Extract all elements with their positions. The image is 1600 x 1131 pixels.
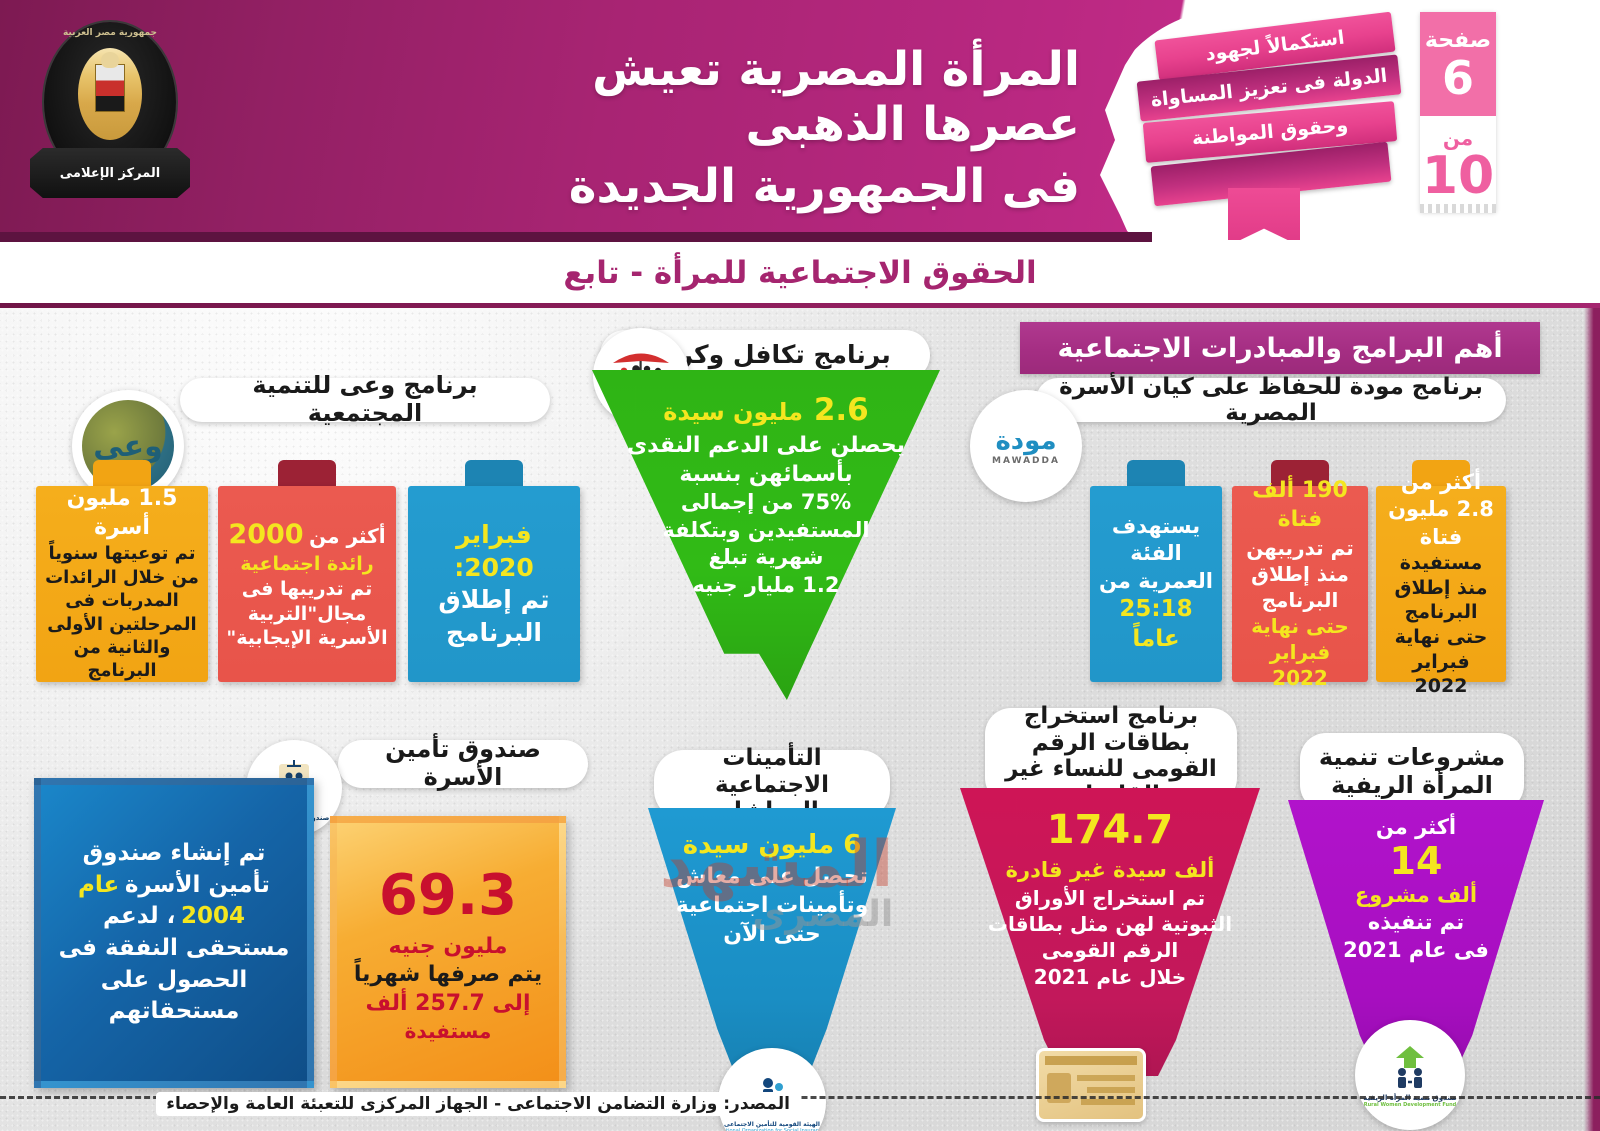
emblem-ribbon-label: المركز الإعلامى [60, 166, 160, 181]
waei-card-blue-body: فبراير 2020: تم إطلاق البرنامج [408, 486, 580, 682]
mawadda-card-orange-body: أكثر من 2.8 مليون فتاة مستفيدة منذ إطلاق… [1376, 486, 1506, 682]
egypt-flag-icon [95, 64, 125, 112]
waei-blue-text: تم إطلاق البرنامج [438, 585, 549, 647]
waei-red-number: 2000 [228, 519, 303, 550]
rural-women-pre: أكثر من [1298, 814, 1534, 842]
family-fund-line-1: يتم صرفها شهرياً [354, 962, 542, 987]
social-insurance-line-3: حتى الآن [658, 920, 886, 949]
page-header: جمهورية مصر العربية رئاسة مجلس الوزراء ا… [0, 0, 1600, 240]
programs-section-header: أهم البرامج والمبادرات الاجتماعية [1020, 322, 1540, 374]
national-id-line-4: خلال عام 2021 [970, 964, 1250, 990]
waei-orange-text: تم توعيتها سنوياً من خلال الرائدات المدر… [45, 543, 199, 681]
national-id-line-1: تم استخراج الأوراق [970, 885, 1250, 911]
takaful-line-1: يحصلن على الدعم النقدى [602, 431, 930, 460]
social-insurance-line-1: تحصل على معاش [658, 862, 886, 891]
national-id-funnel: 174.7 ألف سيدة غير قادرة تم استخراج الأو… [960, 788, 1260, 1088]
page-title-line2: فى الجمهورية الجديدة [420, 159, 1080, 214]
page-title: المرأة المصرية تعيش عصرها الذهبى فى الجم… [420, 42, 1080, 214]
mawadda-red-text: تم تدريبهن منذ إطلاق البرنامج [1246, 536, 1354, 612]
eagle-head-icon [101, 52, 119, 68]
rural-women-title: مشروعات تنمية المرأة الريفية [1318, 744, 1506, 799]
rural-women-number: 14 [1298, 842, 1534, 882]
national-id-line-2: الثبوتية لهن مثل بطاقات [970, 911, 1250, 937]
page-number-badge: صفحة 6 من 10 [1420, 12, 1496, 212]
waei-orange-highlight: 1.5 مليون أسرة [67, 486, 178, 540]
page-badge-bottom: من 10 [1420, 116, 1496, 212]
family-fund-number: 69.3 [354, 860, 542, 933]
waei-card-red: أكثر من 2000 رائدة اجتماعية تم تدريبها ف… [218, 486, 396, 682]
takaful-unit: مليون سيدة [663, 398, 803, 426]
header-ribbon-banner: استكمالاً لجهود الدولة فى تعزيز المساواة… [1110, 20, 1410, 230]
takaful-highlight-number: 2.6 مليون سيدة [602, 390, 930, 431]
waei-blue-highlight: فبراير 2020: [454, 520, 534, 582]
page-total: 10 [1422, 150, 1494, 202]
national-id-line-3: الرقم القومى [970, 937, 1250, 963]
egypt-government-emblem: جمهورية مصر العربية رئاسة مجلس الوزراء ا… [30, 22, 190, 212]
social-insurance-logo-caption-en: National Organization for Social Insuran… [719, 1128, 824, 1131]
waei-red-pre: أكثر من [309, 524, 385, 548]
national-id-card-logo [1036, 1048, 1146, 1122]
family-fund-line-3: مستفيدة [405, 1019, 492, 1043]
footer-source-label: المصدر: وزارة التضامن الاجتماعى - الجهاز… [156, 1092, 800, 1116]
mawadda-title-pill: برنامج مودة للحفاظ على كيان الأسرة المصر… [1036, 378, 1506, 422]
emblem-ribbon: المركز الإعلامى [30, 148, 190, 198]
section-subtitle: الحقوق الاجتماعية للمرأة - تابع [563, 255, 1036, 291]
family-fund-title: صندوق تأمين الأسرة [356, 736, 570, 791]
waei-card-blue: فبراير 2020: تم إطلاق البرنامج [408, 486, 580, 682]
social-insurance-logo-caption-ar: الهيئة القومية للتأمين الاجتماعى [719, 1121, 824, 1128]
emblem-arc-top-text: جمهورية مصر العربية [63, 28, 157, 38]
takaful-funnel: 2.6 مليون سيدة يحصلن على الدعم النقدى بأ… [592, 370, 940, 700]
waei-card-orange-body: 1.5 مليون أسرة تم توعيتها سنوياً من خلال… [36, 486, 208, 682]
takaful-number: 2.6 [814, 392, 869, 428]
section-subtitle-bar: الحقوق الاجتماعية للمرأة - تابع [0, 242, 1600, 304]
rural-women-logo-caption-en: Rural Women Development Fund [1363, 1102, 1457, 1108]
torn-paper-edge-icon [1420, 204, 1496, 213]
waei-red-highlight2: رائدة اجتماعية [240, 553, 373, 575]
mawadda-card-blue-body: يستهدف الفئة العمرية من 25:18 عاماً [1090, 486, 1222, 682]
rural-women-line-1: تم تنفيذه [1298, 909, 1534, 937]
mawadda-red-highlight: 190 ألف فتاة [1252, 478, 1348, 532]
social-insurance-highlight: 6 مليون سيدة [658, 828, 886, 862]
header-bottom-strip [0, 232, 1152, 242]
mawadda-blue-highlight: 25:18 عاماً [1119, 596, 1192, 652]
takaful-line-4: المستفيدين وبتكلفة [602, 517, 930, 545]
infographic-canvas: أهم البرامج والمبادرات الاجتماعية برنامج… [0, 308, 1600, 1131]
canvas-right-edge-decor [1584, 308, 1600, 1131]
family-fund-unit: مليون جنيه [389, 934, 508, 959]
mawadda-orange-highlight: 2.8 مليون فتاة [1388, 497, 1494, 548]
family-fund-line-2: إلى 257.7 ألف [366, 991, 531, 1016]
mawadda-orange-pre: أكثر من [1401, 470, 1481, 494]
mawadda-card-red-body: 190 ألف فتاة تم تدريبهن منذ إطلاق البرنا… [1232, 486, 1368, 682]
mawadda-logo-text-ar: مودة [992, 426, 1060, 456]
mawadda-card-blue: يستهدف الفئة العمرية من 25:18 عاماً [1090, 486, 1222, 682]
waei-title-pill: برنامج وعى للتنمية المجتمعية [180, 378, 550, 422]
takaful-line-3: 75% من إجمالى [602, 489, 930, 517]
family-fund-title-pill: صندوق تأمين الأسرة [338, 740, 588, 788]
family-fund-blue-card: تم إنشاء صندوق تأمين الأسرة عام 2004 ، ل… [34, 778, 314, 1088]
page-label: صفحة [1425, 28, 1491, 53]
mawadda-card-orange: أكثر من 2.8 مليون فتاة مستفيدة منذ إطلاق… [1376, 486, 1506, 682]
national-id-highlight: ألف سيدة غير قادرة [970, 857, 1250, 885]
family-fund-blue-text-post: ، لدعم مستحقى النفقة فى الحصول على مستحق… [59, 903, 290, 1024]
rural-women-line-2: فى عام 2021 [1298, 937, 1534, 965]
takaful-line-5: شهرية تبلغ [602, 544, 930, 572]
social-insurance-funnel: 6 مليون سيدة تحصل على معاش وتأمينات اجتم… [648, 808, 896, 1078]
mawadda-orange-text: مستفيدة منذ إطلاق البرنامج حتى نهاية فبر… [1395, 552, 1488, 697]
waei-card-red-body: أكثر من 2000 رائدة اجتماعية تم تدريبها ف… [218, 486, 396, 682]
waei-red-text: تم تدريبها فى مجال"التربية الأسرية الإيج… [226, 578, 387, 649]
mawadda-card-red: 190 ألف فتاة تم تدريبهن منذ إطلاق البرنا… [1232, 486, 1368, 682]
takaful-line-6: 1.2 مليار جنيه [602, 572, 930, 600]
programs-section-header-label: أهم البرامج والمبادرات الاجتماعية [1057, 333, 1502, 364]
waei-card-orange: 1.5 مليون أسرة تم توعيتها سنوياً من خلال… [36, 486, 208, 682]
mawadda-red-text2: حتى نهاية فبراير 2022 [1251, 614, 1349, 690]
takaful-line-2: بأسمائهن بنسبة [602, 460, 930, 489]
mawadda-title: برنامج مودة للحفاظ على كيان الأسرة المصر… [1054, 374, 1488, 427]
mawadda-blue-text: يستهدف الفئة العمرية من [1099, 514, 1213, 593]
mawadda-logo: مودة MAWADDA [970, 390, 1082, 502]
rural-women-highlight: ألف مشروع [1298, 882, 1534, 910]
page-number: 6 [1442, 55, 1474, 101]
family-fund-orange-card: 69.3 مليون جنيه يتم صرفها شهرياً إلى 257… [330, 816, 566, 1088]
infographic-page: جمهورية مصر العربية رئاسة مجلس الوزراء ا… [0, 0, 1600, 1131]
page-title-line1: المرأة المصرية تعيش عصرها الذهبى [420, 42, 1080, 153]
page-badge-top: صفحة 6 [1420, 12, 1496, 116]
national-id-number: 174.7 [970, 804, 1250, 857]
waei-title: برنامج وعى للتنمية المجتمعية [198, 372, 532, 427]
mawadda-logo-text-en: MAWADDA [992, 456, 1060, 466]
rural-women-development-fund-logo: صندوق تنمية المرأة الريفية Rural Women D… [1355, 1020, 1465, 1130]
social-insurance-line-2: وتأمينات اجتماعية [658, 891, 886, 920]
